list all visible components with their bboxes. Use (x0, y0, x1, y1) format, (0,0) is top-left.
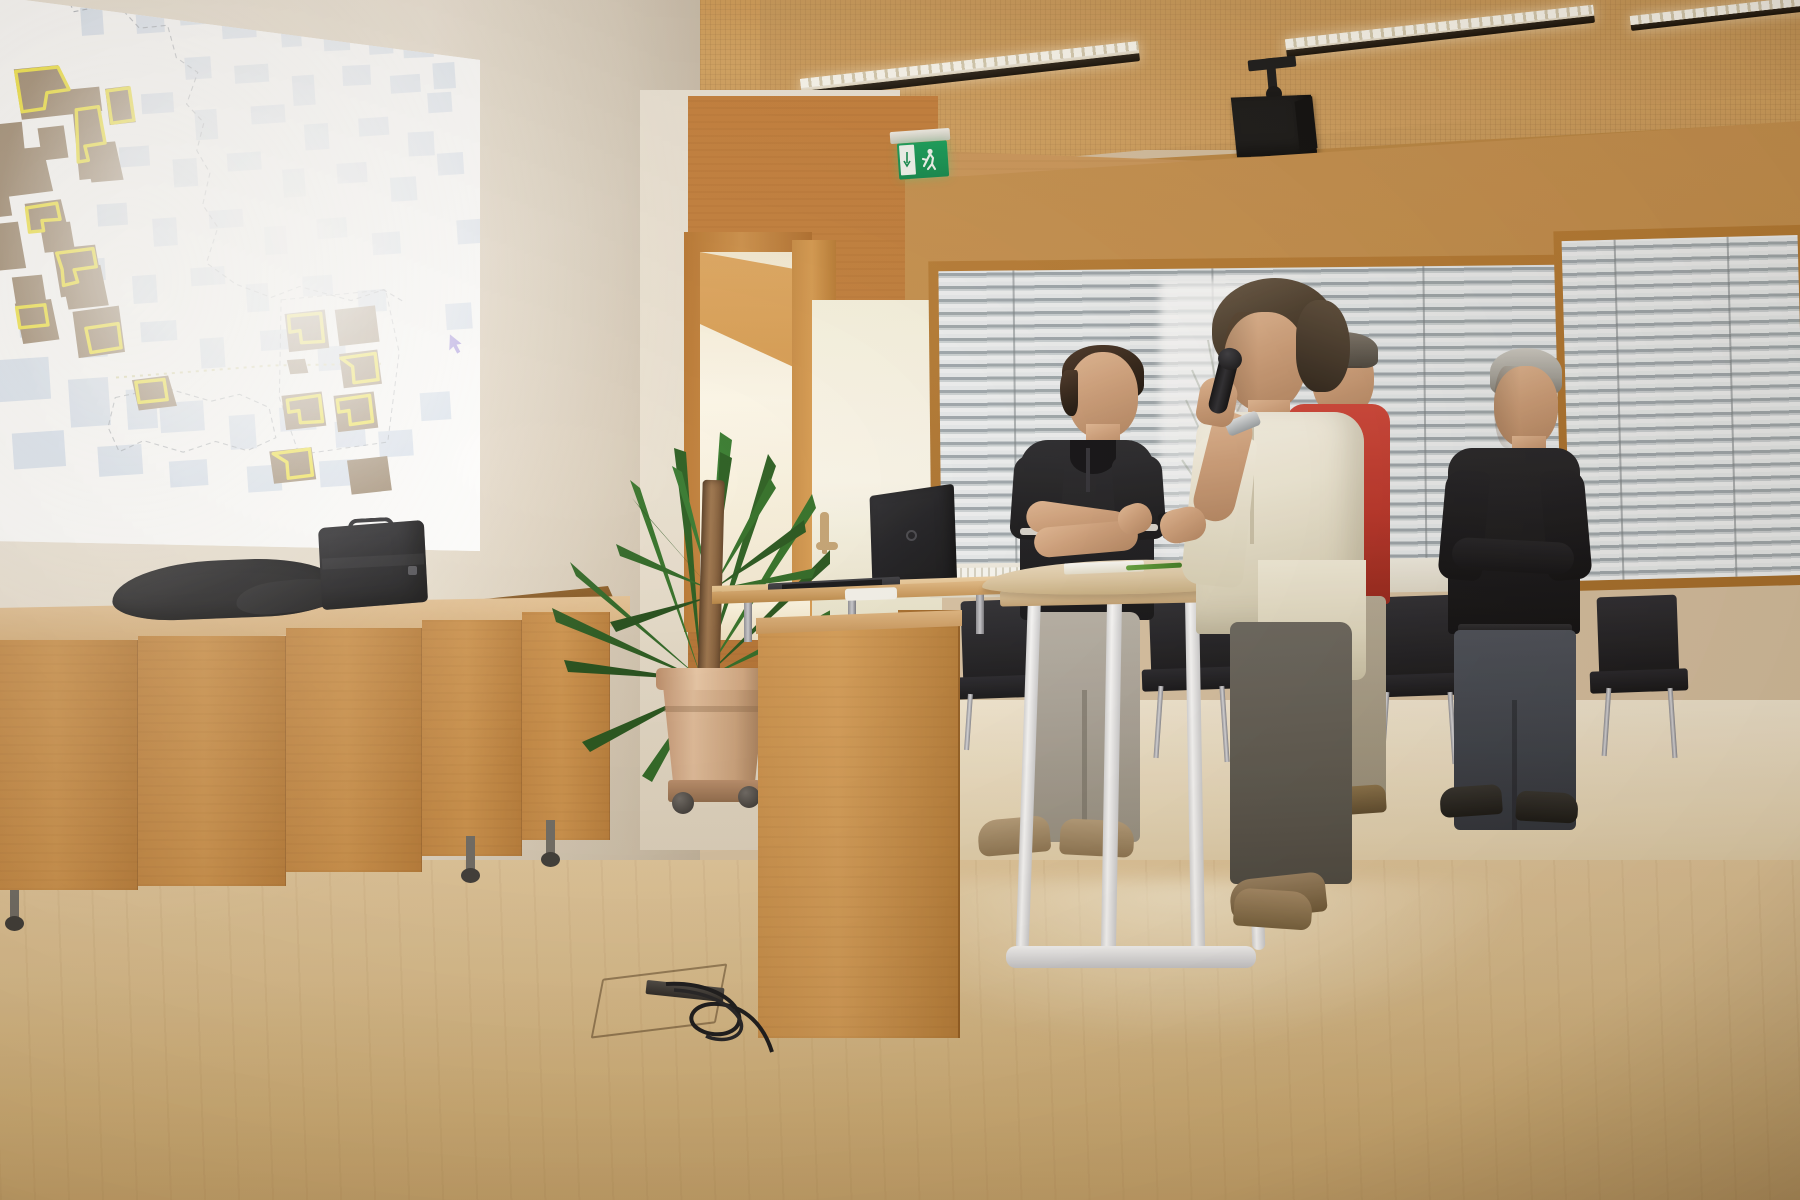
cabinet-door[interactable] (138, 636, 286, 886)
chair-seat[interactable] (1590, 668, 1689, 693)
plant-pot-caster (738, 786, 760, 808)
person4-shoe (1515, 790, 1578, 823)
person2-shoe (1233, 887, 1313, 930)
conference-room-photo (0, 0, 1800, 1200)
person4-shoe (1439, 784, 1503, 818)
cabinet-door[interactable] (0, 640, 138, 890)
shelf-support-leg (744, 596, 752, 642)
lectern (758, 618, 958, 1038)
cabinet-caster (546, 820, 555, 856)
plant-pot-band (664, 706, 764, 712)
person2-trousers (1230, 622, 1352, 884)
venetian-blinds-right[interactable] (1562, 235, 1800, 581)
person1-shoe (1059, 818, 1135, 858)
person1-placket (1086, 448, 1090, 492)
plant-pot (662, 676, 766, 792)
bag-buckle (408, 566, 417, 575)
projection-screen (0, 0, 480, 556)
person2-hair-side (1296, 300, 1350, 392)
running-man-icon (920, 148, 938, 172)
person1-collar (1070, 440, 1116, 474)
mouse-on-shelf[interactable] (845, 587, 897, 601)
projected-site-plan (0, 0, 480, 556)
person1-hair-side (1060, 370, 1078, 416)
laptop-logo-icon (906, 530, 917, 541)
table-foot-rail (1006, 946, 1256, 968)
power-cables (660, 978, 790, 1068)
exit-arrow-icon (903, 152, 911, 168)
cabinet-caster (466, 836, 475, 872)
cabinet-door[interactable] (286, 628, 422, 872)
cabinet-door[interactable] (422, 620, 522, 856)
person4-crossed-arms (1451, 537, 1575, 575)
plant-pot-caster (672, 792, 694, 814)
person1-shoe (977, 815, 1052, 857)
ceiling-projector (1231, 95, 1317, 157)
plant-pot-rim (656, 668, 772, 690)
cabinet-caster (10, 890, 19, 920)
